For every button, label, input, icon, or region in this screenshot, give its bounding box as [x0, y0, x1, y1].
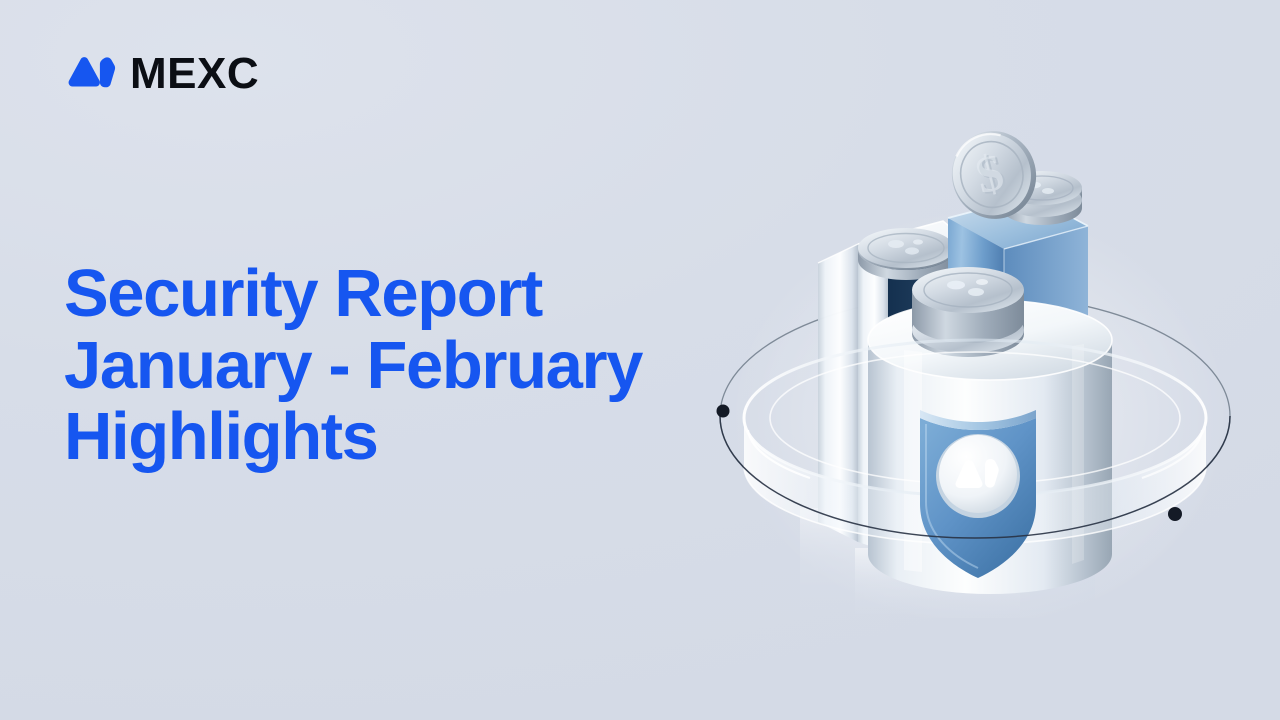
3d-security-bar-chart-illustration: $ $ [690, 118, 1270, 618]
brand-wordmark: MEXC [130, 52, 259, 96]
headline-line-2: January - February [64, 330, 724, 402]
orbit-dot-right [1168, 507, 1182, 521]
brand-logo[interactable]: MEXC [62, 52, 259, 96]
poster-canvas: MEXC Security Report January - February … [0, 0, 1280, 720]
orbit-dot-left [717, 405, 730, 418]
page-title: Security Report January - February Highl… [64, 258, 724, 473]
headline-line-1: Security Report [64, 258, 724, 330]
headline-line-3: Highlights [64, 401, 724, 473]
coin-stack-center [912, 267, 1024, 357]
mexc-logo-icon [62, 55, 116, 93]
